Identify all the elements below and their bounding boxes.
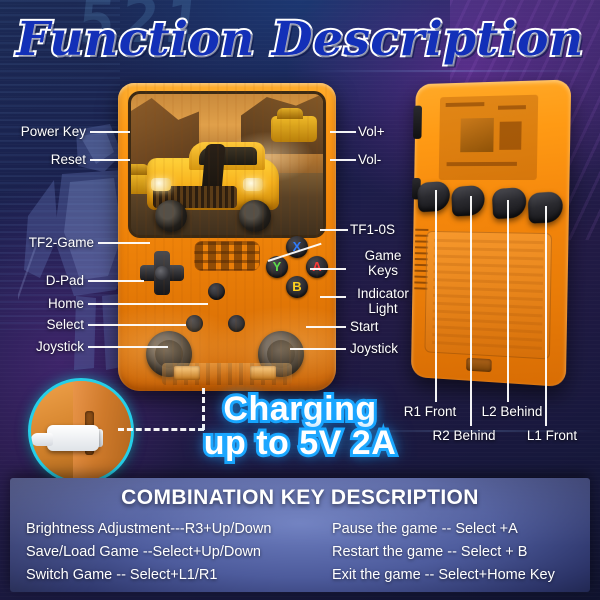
leader-l1-front [545,206,547,426]
label-l2-behind: L2 Behind [476,404,548,419]
leader-r1-front [435,190,437,402]
label-vol-down: Vol- [358,152,438,167]
charging-callout: Charging up to 5V 2A [182,392,418,460]
combo-item-pause: Pause the game -- Select +A [332,518,590,541]
leader-tf1-0s [320,229,348,231]
combination-key-grid: Brightness Adjustment---R3+Up/Down Save/… [10,518,590,592]
combination-key-panel: COMBINATION KEY DESCRIPTION Brightness A… [10,478,590,592]
label-reset: Reset [0,152,86,167]
charging-line-2: up to 5V 2A [182,426,418,460]
label-r2-behind: R2 Behind [424,428,504,443]
label-tf1-0s: TF1-0S [350,222,430,237]
button-b[interactable]: B [286,276,308,298]
leader-joystick-r [290,348,346,350]
combo-item-exit: Exit the game -- Select+Home Key [332,564,590,587]
page-title: Function Description [0,12,600,67]
trigger-l2[interactable] [492,187,527,219]
tf2-card-slot[interactable] [174,366,200,380]
leader-reset [90,159,130,161]
charging-port-closeup [28,378,134,484]
leader-home [88,303,208,305]
pcb-chip-1 [499,121,521,149]
start-button[interactable] [228,315,245,332]
label-home: Home [0,296,84,311]
combo-item-brightness: Brightness Adjustment---R3+Up/Down [26,518,316,541]
leader-indicator [320,296,346,298]
label-start: Start [350,319,430,334]
leader-tf2-game [98,242,150,244]
label-game-keys: Game Keys [348,248,418,278]
label-joystick-right: Joystick [350,341,430,356]
button-a[interactable]: A [306,256,328,278]
usb-c-plug [47,425,99,451]
usb-cable [31,433,53,446]
circuit-board [439,95,539,180]
game-car-wheel-rear [239,200,271,232]
leader-dpad [88,280,144,282]
game-car-far-right [271,116,317,142]
label-indicator-light: Indicator Light [348,286,418,316]
combination-key-title: COMBINATION KEY DESCRIPTION [10,486,590,510]
dpad-control[interactable] [140,251,184,295]
leader-l2-behind [507,200,509,402]
pcb-trace-2 [498,105,526,110]
dpad-center [155,266,169,280]
leader-vol-down [330,159,356,161]
pcb-trace-1 [446,102,485,107]
leader-start [306,326,346,328]
leader-vol-up [330,131,356,133]
combination-column-right: Pause the game -- Select +A Restart the … [332,518,590,587]
trigger-r1[interactable] [417,181,451,213]
leader-game-keys [310,268,346,270]
combo-item-restart: Restart the game -- Select + B [332,541,590,564]
tf1-card-slot[interactable] [250,366,276,380]
console-screen [128,91,326,238]
label-select: Select [0,317,84,332]
label-joystick-left: Joystick [0,339,84,354]
infographic-root: 521 Function Description [0,0,600,600]
leader-power-key [90,131,130,133]
label-power-key: Power Key [0,124,86,139]
game-car-headlight-left [151,178,171,191]
label-vol-up: Vol+ [358,124,438,139]
combo-item-switch-game: Switch Game -- Select+L1/R1 [26,564,316,587]
combo-item-save-load: Save/Load Game --Select+Up/Down [26,541,316,564]
handheld-console-front: X Y A B [118,83,336,391]
home-button[interactable] [208,283,225,300]
pcb-trace-3 [447,162,517,166]
label-l1-front: L1 Front [516,428,588,443]
combination-column-left: Brightness Adjustment---R3+Up/Down Save/… [26,518,316,587]
charging-line-1: Charging [182,392,418,426]
label-tf2-game: TF2-Game [0,235,94,250]
game-car-headlight-right [243,178,263,191]
background-streak-1 [300,70,600,72]
battery-lid [424,231,552,360]
select-button[interactable] [186,315,203,332]
leader-r2-behind [470,196,472,426]
speaker-grille [194,241,260,271]
leader-select [88,324,186,326]
bottom-ports-area [162,363,292,385]
game-car-wheel-front [155,200,187,232]
label-dpad: D-Pad [0,273,84,288]
leader-joystick-l [88,346,168,348]
trigger-r2[interactable] [451,185,485,217]
game-car-hero [147,142,279,228]
